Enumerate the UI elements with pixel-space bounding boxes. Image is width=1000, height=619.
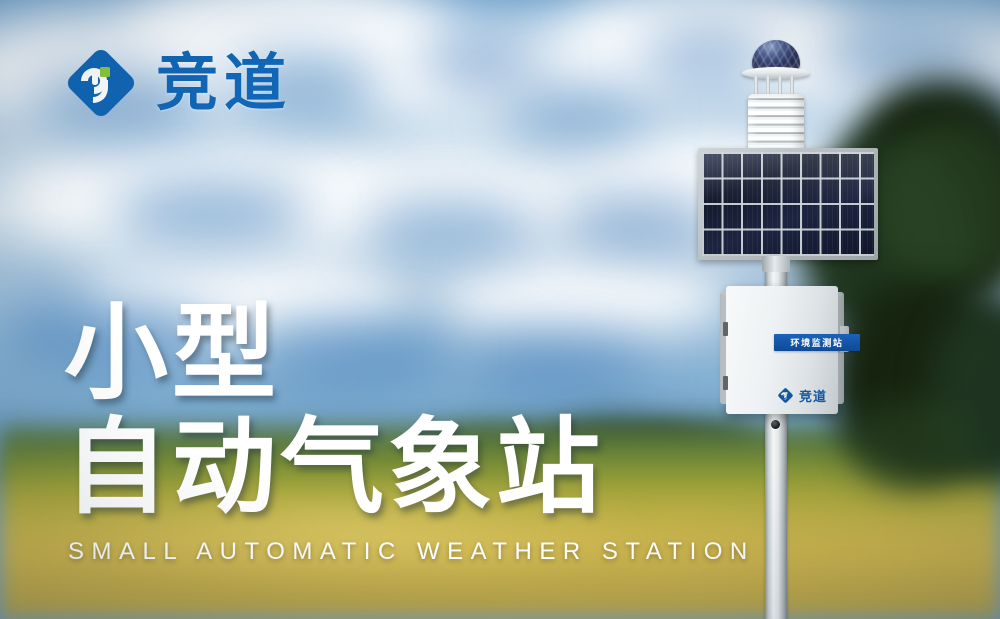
- sensor-top-disc: [742, 67, 810, 79]
- headline-block: 小型 自动气象站: [64, 300, 704, 520]
- headline-subtitle: SMALL AUTOMATIC WEATHER STATION: [68, 538, 755, 566]
- enclosure-latch: [723, 376, 728, 390]
- enclosure-brand-name: 竞道: [799, 386, 827, 405]
- louvered-radiation-shield: [748, 94, 804, 154]
- ultrasonic-weather-sensor-dome: [752, 40, 800, 70]
- control-enclosure: 环境监测站 竞道: [726, 286, 838, 414]
- jingdao-diamond-logo-icon: [62, 44, 140, 122]
- brand-name: 竞道: [156, 52, 292, 114]
- solar-panel: [698, 148, 878, 260]
- enclosure-banner-label: 环境监测站: [790, 336, 843, 349]
- weather-station-product: 环境监测站 竞道: [690, 30, 890, 619]
- tree-foliage: [880, 120, 1000, 290]
- brand-logo[interactable]: 竞道: [62, 44, 292, 122]
- jingdao-diamond-logo-icon: [777, 387, 794, 404]
- solar-panel-bracket: [762, 256, 790, 272]
- headline-line-2: 自动气象站: [64, 414, 704, 520]
- enclosure-banner: 环境监测站: [774, 334, 860, 351]
- solar-panel-cells: [702, 152, 874, 256]
- enclosure-latch: [723, 322, 728, 336]
- enclosure-brand-logo: 竞道: [777, 386, 827, 405]
- mast-bolt: [771, 420, 780, 429]
- headline-line-1: 小型: [64, 300, 704, 406]
- promo-banner: 竞道 小型 自动气象站 SMALL AUTOMATIC WEATHER STAT…: [0, 0, 1000, 619]
